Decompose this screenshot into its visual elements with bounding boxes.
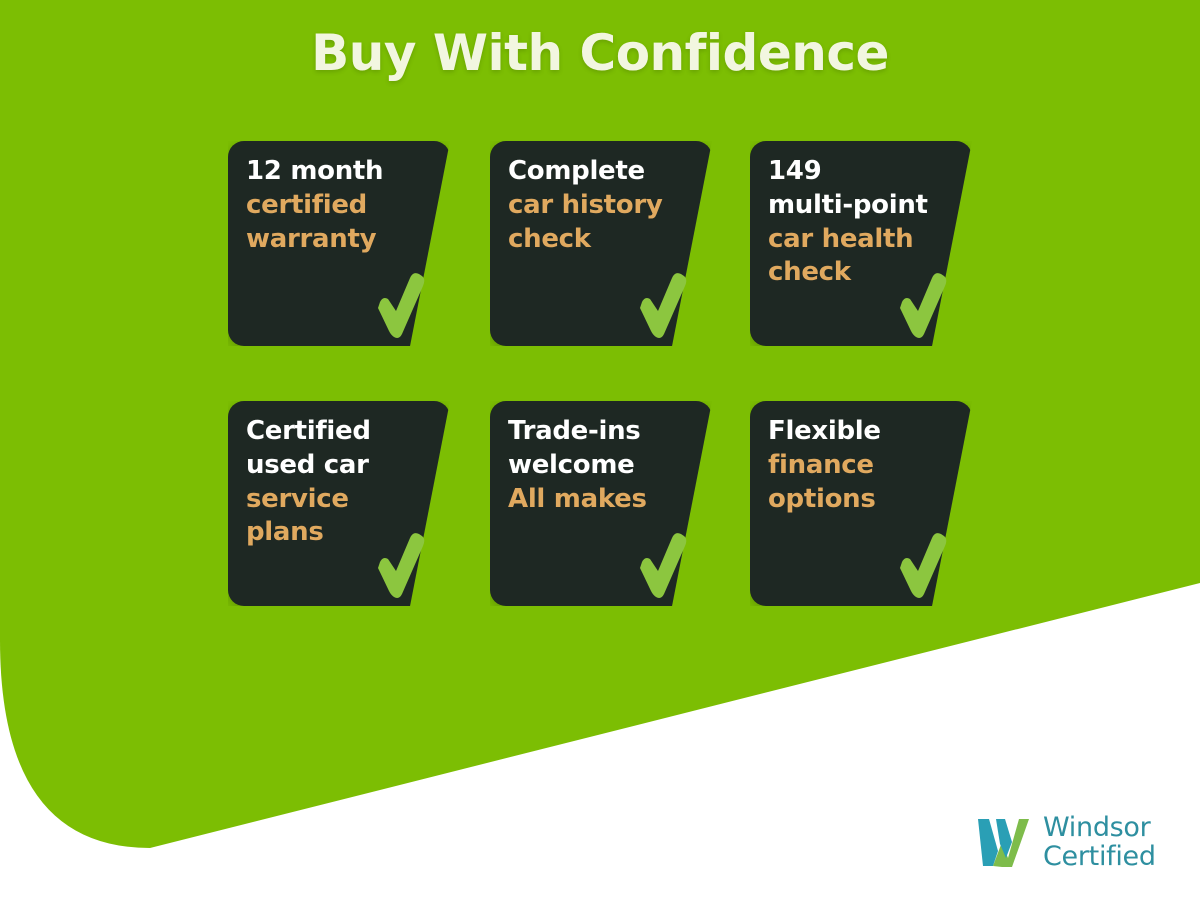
card-line: Complete — [508, 155, 682, 189]
check-icon — [892, 528, 950, 600]
feature-card-flexible-finance-options: Flexiblefinanceoptions — [750, 401, 972, 606]
check-icon — [632, 528, 690, 600]
feature-card-149-multi-point-car-health-check: 149multi-pointcar healthcheck — [750, 141, 972, 346]
card-line: certified — [246, 189, 420, 223]
card-line: service — [246, 483, 420, 517]
card-line: warranty — [246, 223, 420, 257]
card-text-block: Flexiblefinanceoptions — [768, 415, 942, 516]
card-text-block: Completecar historycheck — [508, 155, 682, 256]
feature-card-certified-used-car-service-plans: Certifiedused carserviceplans — [228, 401, 450, 606]
check-icon — [632, 268, 690, 340]
feature-card-complete-car-history-check: Completecar historycheck — [490, 141, 712, 346]
logo-line-2: Certified — [1043, 843, 1156, 872]
card-line: Certified — [246, 415, 420, 449]
logo-wordmark: Windsor Certified — [1043, 814, 1156, 872]
card-line: 149 — [768, 155, 942, 189]
card-line: options — [768, 483, 942, 517]
card-line: Trade-ins — [508, 415, 682, 449]
check-icon — [370, 268, 428, 340]
card-line: check — [508, 223, 682, 257]
card-line: welcome — [508, 449, 682, 483]
card-line: used car — [246, 449, 420, 483]
card-line: Flexible — [768, 415, 942, 449]
card-line: car history — [508, 189, 682, 223]
card-text-block: 12 monthcertifiedwarranty — [246, 155, 420, 256]
card-line: 12 month — [246, 155, 420, 189]
feature-card-12-month-certified-warranty: 12 monthcertifiedwarranty — [228, 141, 450, 346]
windsor-w-icon — [972, 814, 1034, 872]
feature-card-trade-ins-welcome-all-makes: Trade-inswelcomeAll makes — [490, 401, 712, 606]
card-line: car health — [768, 223, 942, 257]
check-icon — [892, 268, 950, 340]
card-text-block: Trade-inswelcomeAll makes — [508, 415, 682, 516]
card-line: finance — [768, 449, 942, 483]
card-line: All makes — [508, 483, 682, 517]
promo-banner: Buy With Confidence 12 monthcertifiedwar… — [0, 0, 1200, 900]
page-title: Buy With Confidence — [0, 24, 1200, 82]
check-icon — [370, 528, 428, 600]
windsor-certified-logo: Windsor Certified — [972, 806, 1172, 880]
logo-line-1: Windsor — [1043, 814, 1156, 843]
feature-card-grid: 12 monthcertifiedwarrantyCompletecar his… — [228, 141, 978, 606]
card-line: multi-point — [768, 189, 942, 223]
